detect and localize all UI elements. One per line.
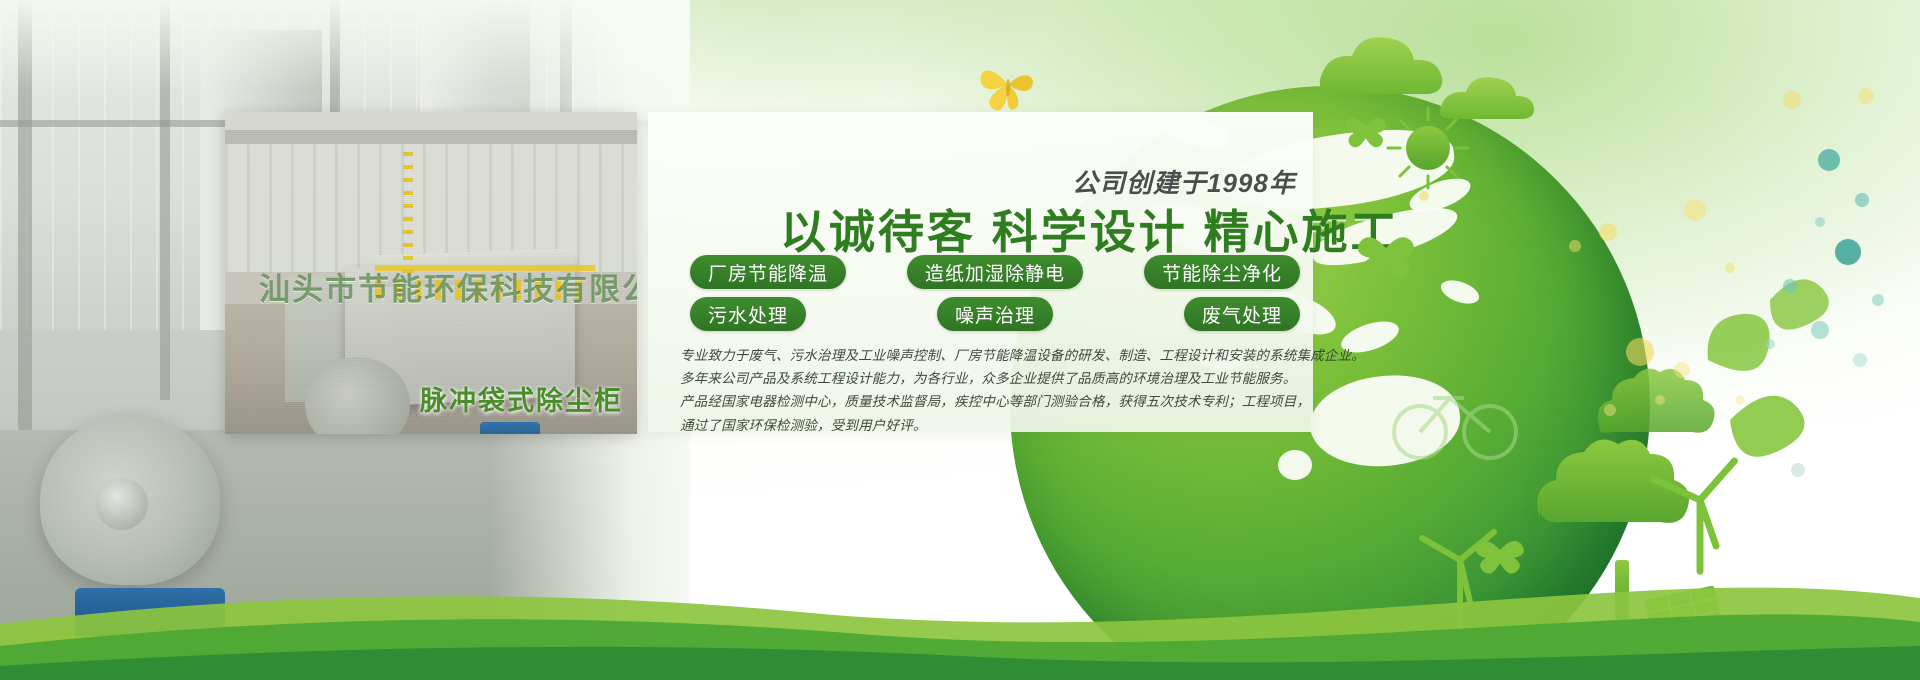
description-line: 多年来公司产品及系统工程设计能力，为各行业，众多企业提供了品质高的环境治理及工业…: [680, 367, 1310, 390]
service-pill[interactable]: 污水处理: [690, 297, 806, 331]
description-line: 通过了国家环保检测验，受到用户好评。: [680, 414, 1310, 437]
service-pill[interactable]: 厂房节能降温: [690, 255, 846, 289]
service-pill[interactable]: 造纸加湿除静电: [907, 255, 1083, 289]
service-pill[interactable]: 废气处理: [1184, 297, 1300, 331]
promo-banner: 汕头市节能环保科技有限公司 脉冲袋式除尘柜 公司创建于1998年 以诚待客 科学…: [0, 0, 1920, 680]
description-line: 专业致力于废气、污水治理及工业噪声控制、厂房节能降温设备的研发、制造、工程设计和…: [680, 344, 1310, 367]
photo-caption: 脉冲袋式除尘柜: [420, 379, 623, 418]
butterfly-icon: [972, 46, 1044, 118]
service-pill-row-1: 厂房节能降温 造纸加湿除静电 节能除尘净化: [690, 255, 1300, 289]
service-pill[interactable]: 节能除尘净化: [1144, 255, 1300, 289]
product-photo: 汕头市节能环保科技有限公司 脉冲袋式除尘柜: [225, 112, 637, 434]
description-line: 产品经国家电器检测中心，质量技术监督局，疾控中心等部门测验合格，获得五次技术专利…: [680, 390, 1310, 413]
headline-title: 以诚待客 科学设计 精心施工: [780, 196, 1300, 262]
service-pill[interactable]: 噪声治理: [937, 297, 1053, 331]
service-pill-row-2: 污水处理 噪声治理 废气处理: [690, 297, 1300, 331]
established-label: 公司创建于1998年: [1072, 163, 1296, 200]
company-description: 专业致力于废气、污水治理及工业噪声控制、厂房节能降温设备的研发、制造、工程设计和…: [680, 344, 1310, 437]
